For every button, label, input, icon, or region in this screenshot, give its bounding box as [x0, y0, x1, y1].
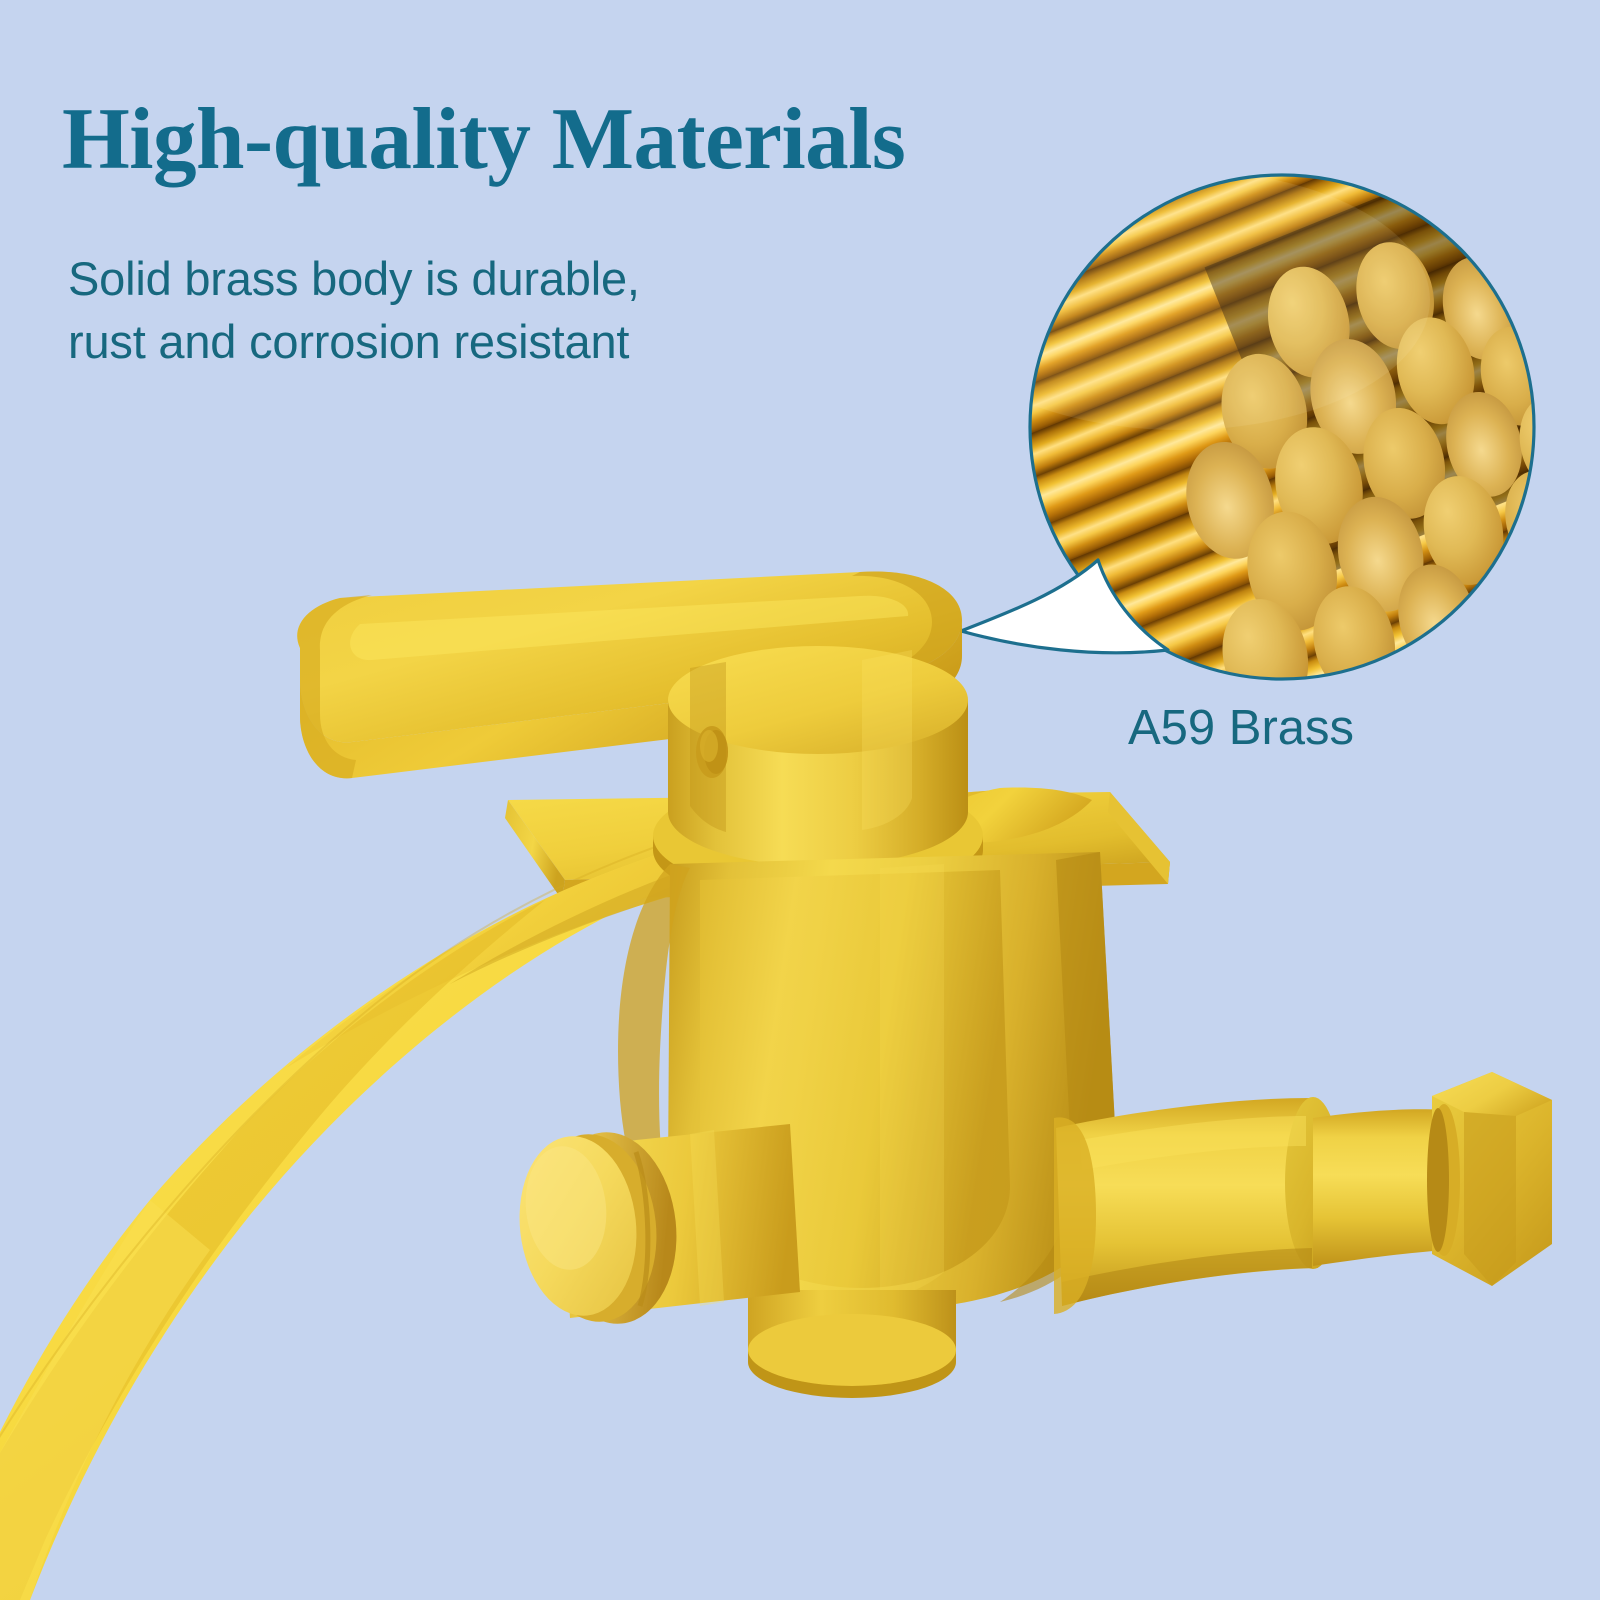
- page-subtitle: Solid brass body is durable, rust and co…: [68, 248, 640, 373]
- page-title: High-quality Materials: [62, 96, 905, 184]
- material-callout-label: A59 Brass: [1128, 700, 1354, 756]
- valve-body: [618, 852, 1118, 1398]
- product-feature-banner: High-quality Materials Solid brass body …: [0, 0, 1600, 1600]
- bottom-outlet: [748, 1290, 956, 1398]
- inlet-pipe: [1054, 1072, 1552, 1314]
- hex-nut: [1427, 1072, 1552, 1286]
- product-illustration: [0, 0, 1600, 1600]
